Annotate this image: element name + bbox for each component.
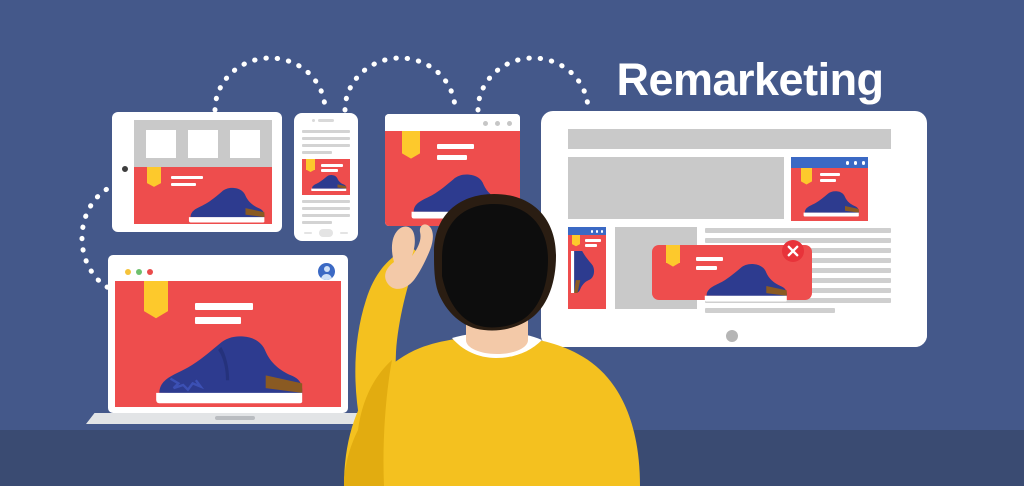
- window-dot-icon[interactable]: [507, 121, 512, 126]
- phone-text-line: [302, 200, 350, 203]
- shoe-image: [309, 172, 347, 193]
- tablet-screen: [134, 120, 272, 224]
- shoe-image: [184, 185, 266, 223]
- window-dot-icon[interactable]: [495, 121, 500, 126]
- traffic-light-green-icon[interactable]: [136, 269, 142, 275]
- shoe-image-rotated: [571, 251, 603, 307]
- ad-text-line: [820, 179, 836, 182]
- window-dot-icon[interactable]: [846, 161, 850, 165]
- ad-text-line: [437, 144, 474, 149]
- ad-text-line: [321, 164, 343, 167]
- device-monitor[interactable]: [541, 111, 927, 347]
- phone-screen: [299, 126, 353, 226]
- avatar[interactable]: [318, 263, 335, 280]
- phone-back-icon[interactable]: [304, 232, 312, 234]
- phone-text-line: [302, 207, 350, 210]
- tablet-tile: [188, 130, 218, 158]
- window-dot-icon[interactable]: [483, 121, 488, 126]
- ribbon-icon: [572, 235, 580, 248]
- monitor-top-bar: [568, 129, 891, 149]
- shoe-image: [800, 189, 860, 217]
- device-tablet[interactable]: [112, 112, 282, 232]
- phone-text-line: [302, 221, 332, 224]
- ad-text-line: [195, 303, 253, 310]
- ribbon-icon: [666, 245, 680, 270]
- phone-text-line: [302, 214, 350, 217]
- ribbon-icon: [402, 131, 420, 163]
- browser-title-bar: [385, 114, 520, 131]
- phone-text-line: [302, 151, 332, 154]
- laptop-ad[interactable]: [115, 281, 341, 407]
- floor-band: [0, 430, 1024, 486]
- traffic-light-red-icon[interactable]: [147, 269, 153, 275]
- window-dot-icon[interactable]: [596, 230, 599, 233]
- phone-menu-icon[interactable]: [340, 232, 348, 234]
- phone-speaker-icon: [318, 119, 334, 122]
- monitor-vertical-ad[interactable]: [568, 227, 606, 309]
- window-dot-icon[interactable]: [854, 161, 858, 165]
- tablet-home-button[interactable]: [120, 164, 130, 174]
- monitor-article-line: [705, 228, 891, 233]
- laptop-trackpad-notch: [215, 416, 255, 420]
- ad-text-line: [585, 244, 597, 247]
- shoe-image: [699, 261, 789, 302]
- close-icon[interactable]: [782, 240, 804, 262]
- laptop-screen: [115, 261, 341, 407]
- device-browser-window[interactable]: [385, 114, 520, 226]
- phone-text-line: [302, 137, 350, 140]
- device-phone[interactable]: [294, 113, 358, 241]
- monitor-power-led: [726, 330, 738, 342]
- ad-text-line: [437, 155, 467, 160]
- device-laptop[interactable]: [108, 255, 348, 413]
- ad-text-line: [171, 176, 203, 179]
- window-dot-icon[interactable]: [862, 161, 866, 165]
- page-title: Remarketing: [600, 52, 900, 108]
- ad-text-line: [585, 239, 601, 242]
- ribbon-icon: [147, 167, 161, 190]
- tablet-tile: [146, 130, 176, 158]
- monitor-article-line: [705, 308, 835, 313]
- ad-text-line: [195, 317, 241, 324]
- phone-ad[interactable]: [302, 159, 350, 195]
- tablet-ad[interactable]: [134, 167, 272, 224]
- illustration-canvas: Remarketing: [0, 0, 1024, 486]
- tablet-tile: [230, 130, 260, 158]
- browser-window-ad[interactable]: [385, 131, 520, 226]
- phone-text-line: [302, 144, 350, 147]
- shoe-image: [146, 331, 306, 404]
- monitor-sidebar-ad[interactable]: [791, 157, 868, 221]
- laptop-browser-title-bar: [115, 261, 341, 281]
- traffic-light-yellow-icon[interactable]: [125, 269, 131, 275]
- window-dot-icon[interactable]: [601, 230, 604, 233]
- monitor-hero-block: [568, 157, 784, 219]
- ribbon-icon: [801, 168, 812, 187]
- sidebar-ad-title-bar: [791, 157, 868, 168]
- ribbon-icon: [144, 281, 168, 324]
- phone-camera-icon: [312, 119, 315, 122]
- vertical-ad-title-bar: [568, 227, 606, 235]
- ad-text-line: [820, 173, 840, 176]
- window-dot-icon[interactable]: [591, 230, 594, 233]
- shoe-image: [405, 171, 510, 219]
- phone-text-line: [302, 130, 350, 133]
- phone-home-button[interactable]: [319, 229, 333, 237]
